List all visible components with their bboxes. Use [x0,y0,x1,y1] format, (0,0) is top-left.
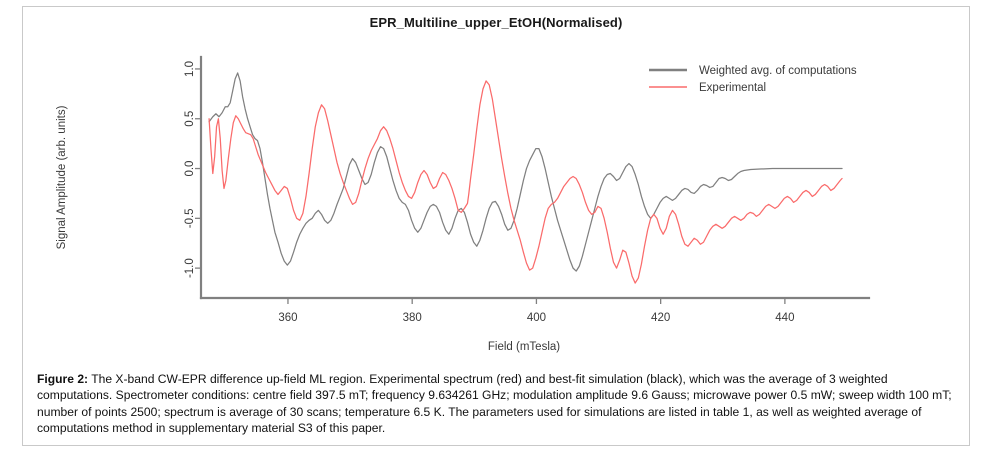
x-tick-label: 420 [651,312,670,324]
caption-label: Figure 2: [37,372,88,386]
caption-body: The X-band CW-EPR difference up-field ML… [37,372,952,435]
x-tick-label: 380 [403,312,422,324]
legend-label-experimental: Experimental [699,82,766,94]
chart-area: EPR_Multiline_upper_EtOH(Normalised) 1.0… [23,7,969,355]
x-tick-label: 360 [278,312,297,324]
y-tick-label: 0.0 [184,161,196,177]
y-tick-label: 0.5 [184,111,196,127]
figure-container: EPR_Multiline_upper_EtOH(Normalised) 1.0… [0,0,992,458]
x-tick-label: 440 [775,312,794,324]
legend-label-weighted-avg: Weighted avg. of computations [699,65,857,77]
x-tick-label: 400 [527,312,546,324]
trace-experimental [209,81,842,283]
y-tick-label: 1.0 [184,61,196,77]
epr-spectrum-plot: 1.00.50.0-0.5-1.0Signal Amplitude (arb. … [23,7,969,355]
x-axis-title: Field (mTesla) [488,341,560,353]
y-tick-label: -1.0 [184,258,196,278]
y-tick-label: -0.5 [184,208,196,228]
figure-caption: Figure 2: The X-band CW-EPR difference u… [37,371,957,437]
trace-weighted-avg-computations [209,73,842,271]
y-axis-title: Signal Amplitude (arb. units) [56,105,68,249]
